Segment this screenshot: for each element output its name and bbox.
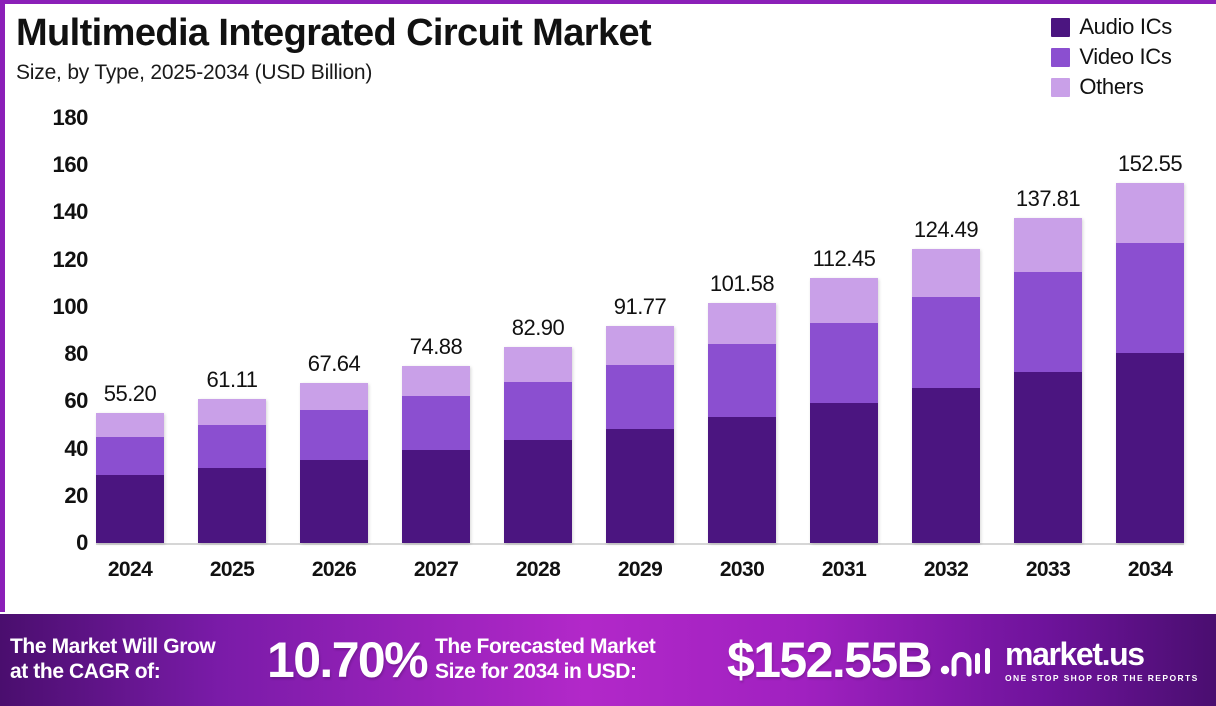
bar-stack[interactable] (1014, 218, 1082, 543)
bar-segment-others[interactable] (402, 366, 470, 396)
x-axis-tick-label: 2033 (1014, 558, 1082, 582)
x-axis-tick-label: 2030 (708, 558, 776, 582)
forecast-block: The Forecasted Market Size for 2034 in U… (427, 635, 931, 685)
market-us-logo[interactable]: market.us ONE STOP SHOP FOR THE REPORTS (937, 638, 1199, 683)
y-axis-tick-label: 100 (52, 294, 88, 320)
logo-mark-icon (937, 640, 999, 680)
y-axis-tick-label: 80 (64, 341, 88, 367)
bar-column[interactable]: 61.11 (198, 118, 266, 543)
logo-tagline: ONE STOP SHOP FOR THE REPORTS (1005, 673, 1199, 683)
logo-name: market.us (1005, 638, 1199, 670)
y-axis-tick-label: 120 (52, 247, 88, 273)
bar-value-label: 82.90 (512, 315, 565, 341)
bar-column[interactable]: 67.64 (300, 118, 368, 543)
cagr-label: The Market Will Grow at the CAGR of: (10, 635, 265, 685)
legend-item-label: Others (1079, 74, 1143, 100)
cagr-block: The Market Will Grow at the CAGR of: 10.… (0, 635, 427, 685)
legend-item-others[interactable]: Others (1051, 74, 1172, 100)
bar-segment-video-ics[interactable] (504, 382, 572, 440)
bar-value-label: 124.49 (914, 217, 978, 243)
chart-subtitle: Size, by Type, 2025-2034 (USD Billion) (16, 61, 886, 85)
y-axis: 020406080100120140160180 (26, 118, 88, 544)
y-axis-tick-label: 20 (64, 483, 88, 509)
bar-segment-audio-ics[interactable] (300, 460, 368, 543)
legend-item-audio-ics[interactable]: Audio ICs (1051, 14, 1172, 40)
y-axis-tick-label: 140 (52, 199, 88, 225)
bar-column[interactable]: 152.55 (1116, 118, 1184, 543)
bar-segment-audio-ics[interactable] (504, 440, 572, 543)
bar-stack[interactable] (300, 383, 368, 543)
forecast-label-line2: Size for 2034 in USD: (435, 660, 725, 685)
bar-stack[interactable] (198, 399, 266, 543)
x-axis-tick-label: 2024 (96, 558, 164, 582)
page-title: Multimedia Integrated Circuit Market (16, 14, 886, 54)
bar-stack[interactable] (912, 249, 980, 543)
bar-segment-others[interactable] (1116, 183, 1184, 243)
bar-column[interactable]: 91.77 (606, 118, 674, 543)
bar-segment-video-ics[interactable] (402, 396, 470, 450)
legend-swatch-icon (1051, 18, 1070, 37)
x-axis-tick-label: 2034 (1116, 558, 1184, 582)
bar-segment-video-ics[interactable] (300, 410, 368, 459)
bar-value-label: 55.20 (104, 381, 157, 407)
bar-segment-others[interactable] (198, 399, 266, 425)
bar-segment-audio-ics[interactable] (708, 417, 776, 543)
bar-stack[interactable] (810, 278, 878, 544)
forecast-label: The Forecasted Market Size for 2034 in U… (435, 635, 725, 685)
x-axis-tick-label: 2027 (402, 558, 470, 582)
bar-segment-audio-ics[interactable] (402, 450, 470, 543)
chart-plot-area: 020406080100120140160180 55.2061.1167.64… (0, 118, 1216, 608)
bar-segment-video-ics[interactable] (810, 323, 878, 402)
legend-item-video-ics[interactable]: Video ICs (1051, 44, 1172, 70)
bar-stack[interactable] (402, 366, 470, 543)
x-axis-tick-label: 2025 (198, 558, 266, 582)
bar-stack[interactable] (606, 326, 674, 543)
legend-swatch-icon (1051, 78, 1070, 97)
bar-segment-others[interactable] (708, 303, 776, 344)
legend-swatch-icon (1051, 48, 1070, 67)
bar-segment-audio-ics[interactable] (1014, 372, 1082, 543)
bar-value-label: 61.11 (207, 367, 258, 393)
bar-segment-audio-ics[interactable] (1116, 353, 1184, 543)
bar-column[interactable]: 124.49 (912, 118, 980, 543)
forecast-value: $152.55B (727, 635, 931, 685)
cagr-label-line2: at the CAGR of: (10, 660, 265, 685)
bar-value-label: 137.81 (1016, 186, 1080, 212)
chart-legend: Audio ICsVideo ICsOthers (1051, 14, 1172, 100)
bar-value-label: 101.58 (710, 271, 774, 297)
bar-segment-video-ics[interactable] (198, 425, 266, 468)
bar-segment-others[interactable] (96, 413, 164, 437)
footer-banner: The Market Will Grow at the CAGR of: 10.… (0, 614, 1216, 706)
bar-value-label: 91.77 (614, 294, 667, 320)
bar-segment-others[interactable] (912, 249, 980, 297)
bar-segment-others[interactable] (1014, 218, 1082, 273)
y-axis-tick-label: 160 (52, 152, 88, 178)
x-axis-tick-label: 2029 (606, 558, 674, 582)
y-axis-tick-label: 0 (76, 530, 88, 556)
y-axis-tick-label: 60 (64, 388, 88, 414)
logo-text: market.us ONE STOP SHOP FOR THE REPORTS (1005, 638, 1199, 683)
bar-segment-others[interactable] (606, 326, 674, 365)
bar-value-label: 67.64 (308, 351, 361, 377)
y-axis-tick-label: 40 (64, 436, 88, 462)
bar-segment-others[interactable] (810, 278, 878, 324)
bar-column[interactable]: 137.81 (1014, 118, 1082, 543)
bar-segment-others[interactable] (504, 347, 572, 382)
bar-segment-video-ics[interactable] (96, 437, 164, 475)
bar-value-label: 152.55 (1118, 151, 1182, 177)
bar-segment-others[interactable] (300, 383, 368, 410)
bar-stack[interactable] (504, 347, 572, 543)
bar-stack[interactable] (96, 413, 164, 543)
bar-stack[interactable] (708, 303, 776, 543)
bar-segment-video-ics[interactable] (1116, 243, 1184, 353)
bar-column[interactable]: 112.45 (810, 118, 878, 543)
x-axis-tick-label: 2032 (912, 558, 980, 582)
frame-top-border (0, 0, 1216, 4)
bar-segment-video-ics[interactable] (1014, 272, 1082, 371)
x-axis-tick-label: 2031 (810, 558, 878, 582)
bar-segment-video-ics[interactable] (912, 297, 980, 388)
x-axis: 2024202520262027202820292030203120322033… (96, 558, 1184, 582)
forecast-label-line1: The Forecasted Market (435, 635, 725, 660)
bar-column[interactable]: 74.88 (402, 118, 470, 543)
bar-column[interactable]: 101.58 (708, 118, 776, 543)
legend-item-label: Audio ICs (1079, 14, 1172, 40)
legend-item-label: Video ICs (1079, 44, 1171, 70)
y-axis-tick-label: 180 (52, 105, 88, 131)
bar-value-label: 74.88 (410, 334, 463, 360)
x-axis-baseline (96, 543, 1184, 545)
bar-segment-video-ics[interactable] (708, 344, 776, 417)
bar-stack[interactable] (1116, 183, 1184, 543)
bar-segment-audio-ics[interactable] (912, 388, 980, 543)
chart-infographic: Multimedia Integrated Circuit Market Siz… (0, 0, 1216, 706)
bar-segment-video-ics[interactable] (606, 365, 674, 429)
bar-segment-audio-ics[interactable] (810, 403, 878, 543)
chart-header: Multimedia Integrated Circuit Market Siz… (16, 14, 886, 85)
bar-segment-audio-ics[interactable] (96, 475, 164, 543)
bar-column[interactable]: 82.90 (504, 118, 572, 543)
x-axis-tick-label: 2026 (300, 558, 368, 582)
x-axis-tick-label: 2028 (504, 558, 572, 582)
cagr-label-line1: The Market Will Grow (10, 635, 265, 660)
bar-group: 55.2061.1167.6474.8882.9091.77101.58112.… (96, 118, 1184, 543)
bar-segment-audio-ics[interactable] (198, 468, 266, 543)
bar-column[interactable]: 55.20 (96, 118, 164, 543)
bar-value-label: 112.45 (813, 246, 876, 272)
cagr-value: 10.70% (267, 635, 427, 685)
bar-segment-audio-ics[interactable] (606, 429, 674, 543)
